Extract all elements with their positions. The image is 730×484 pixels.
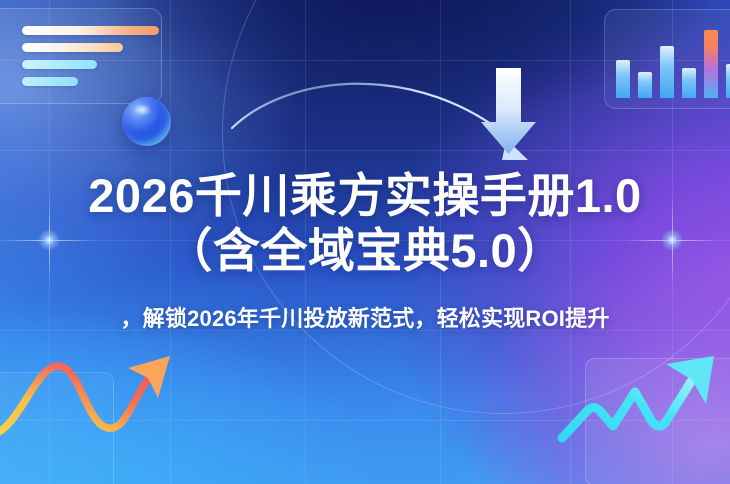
title-line-2: （含全域宝典5.0） [0, 223, 730, 278]
bar-cyan-mid-icon [22, 60, 97, 69]
chart-bar-2 [638, 72, 652, 98]
promo-banner: 2026千川乘方实操手册1.0 （含全域宝典5.0） ，解锁2026年千川投放新… [0, 0, 730, 484]
bottom-left-frame [0, 372, 114, 484]
title-block: 2026千川乘方实操手册1.0 （含全域宝典5.0） [0, 168, 730, 278]
blue-gradient-sphere-icon [122, 97, 171, 146]
chart-bar-3 [660, 46, 674, 98]
top-left-bar-list [22, 26, 202, 94]
top-right-bar-chart [616, 16, 730, 98]
subtitle-text: ，解锁2026年千川投放新范式，轻松实现ROI提升 [0, 304, 730, 334]
chart-bar-1 [616, 60, 630, 98]
chart-bar-4 [682, 68, 696, 98]
chart-bar-6 [726, 64, 730, 98]
bar-orange-short-icon [22, 43, 123, 52]
bar-cyan-short-icon [22, 77, 78, 86]
title-line-1: 2026千川乘方实操手册1.0 [0, 168, 730, 223]
chart-bar-5-highlight [704, 30, 718, 98]
bar-orange-long-icon [22, 26, 159, 35]
bottom-right-frame [585, 358, 730, 484]
